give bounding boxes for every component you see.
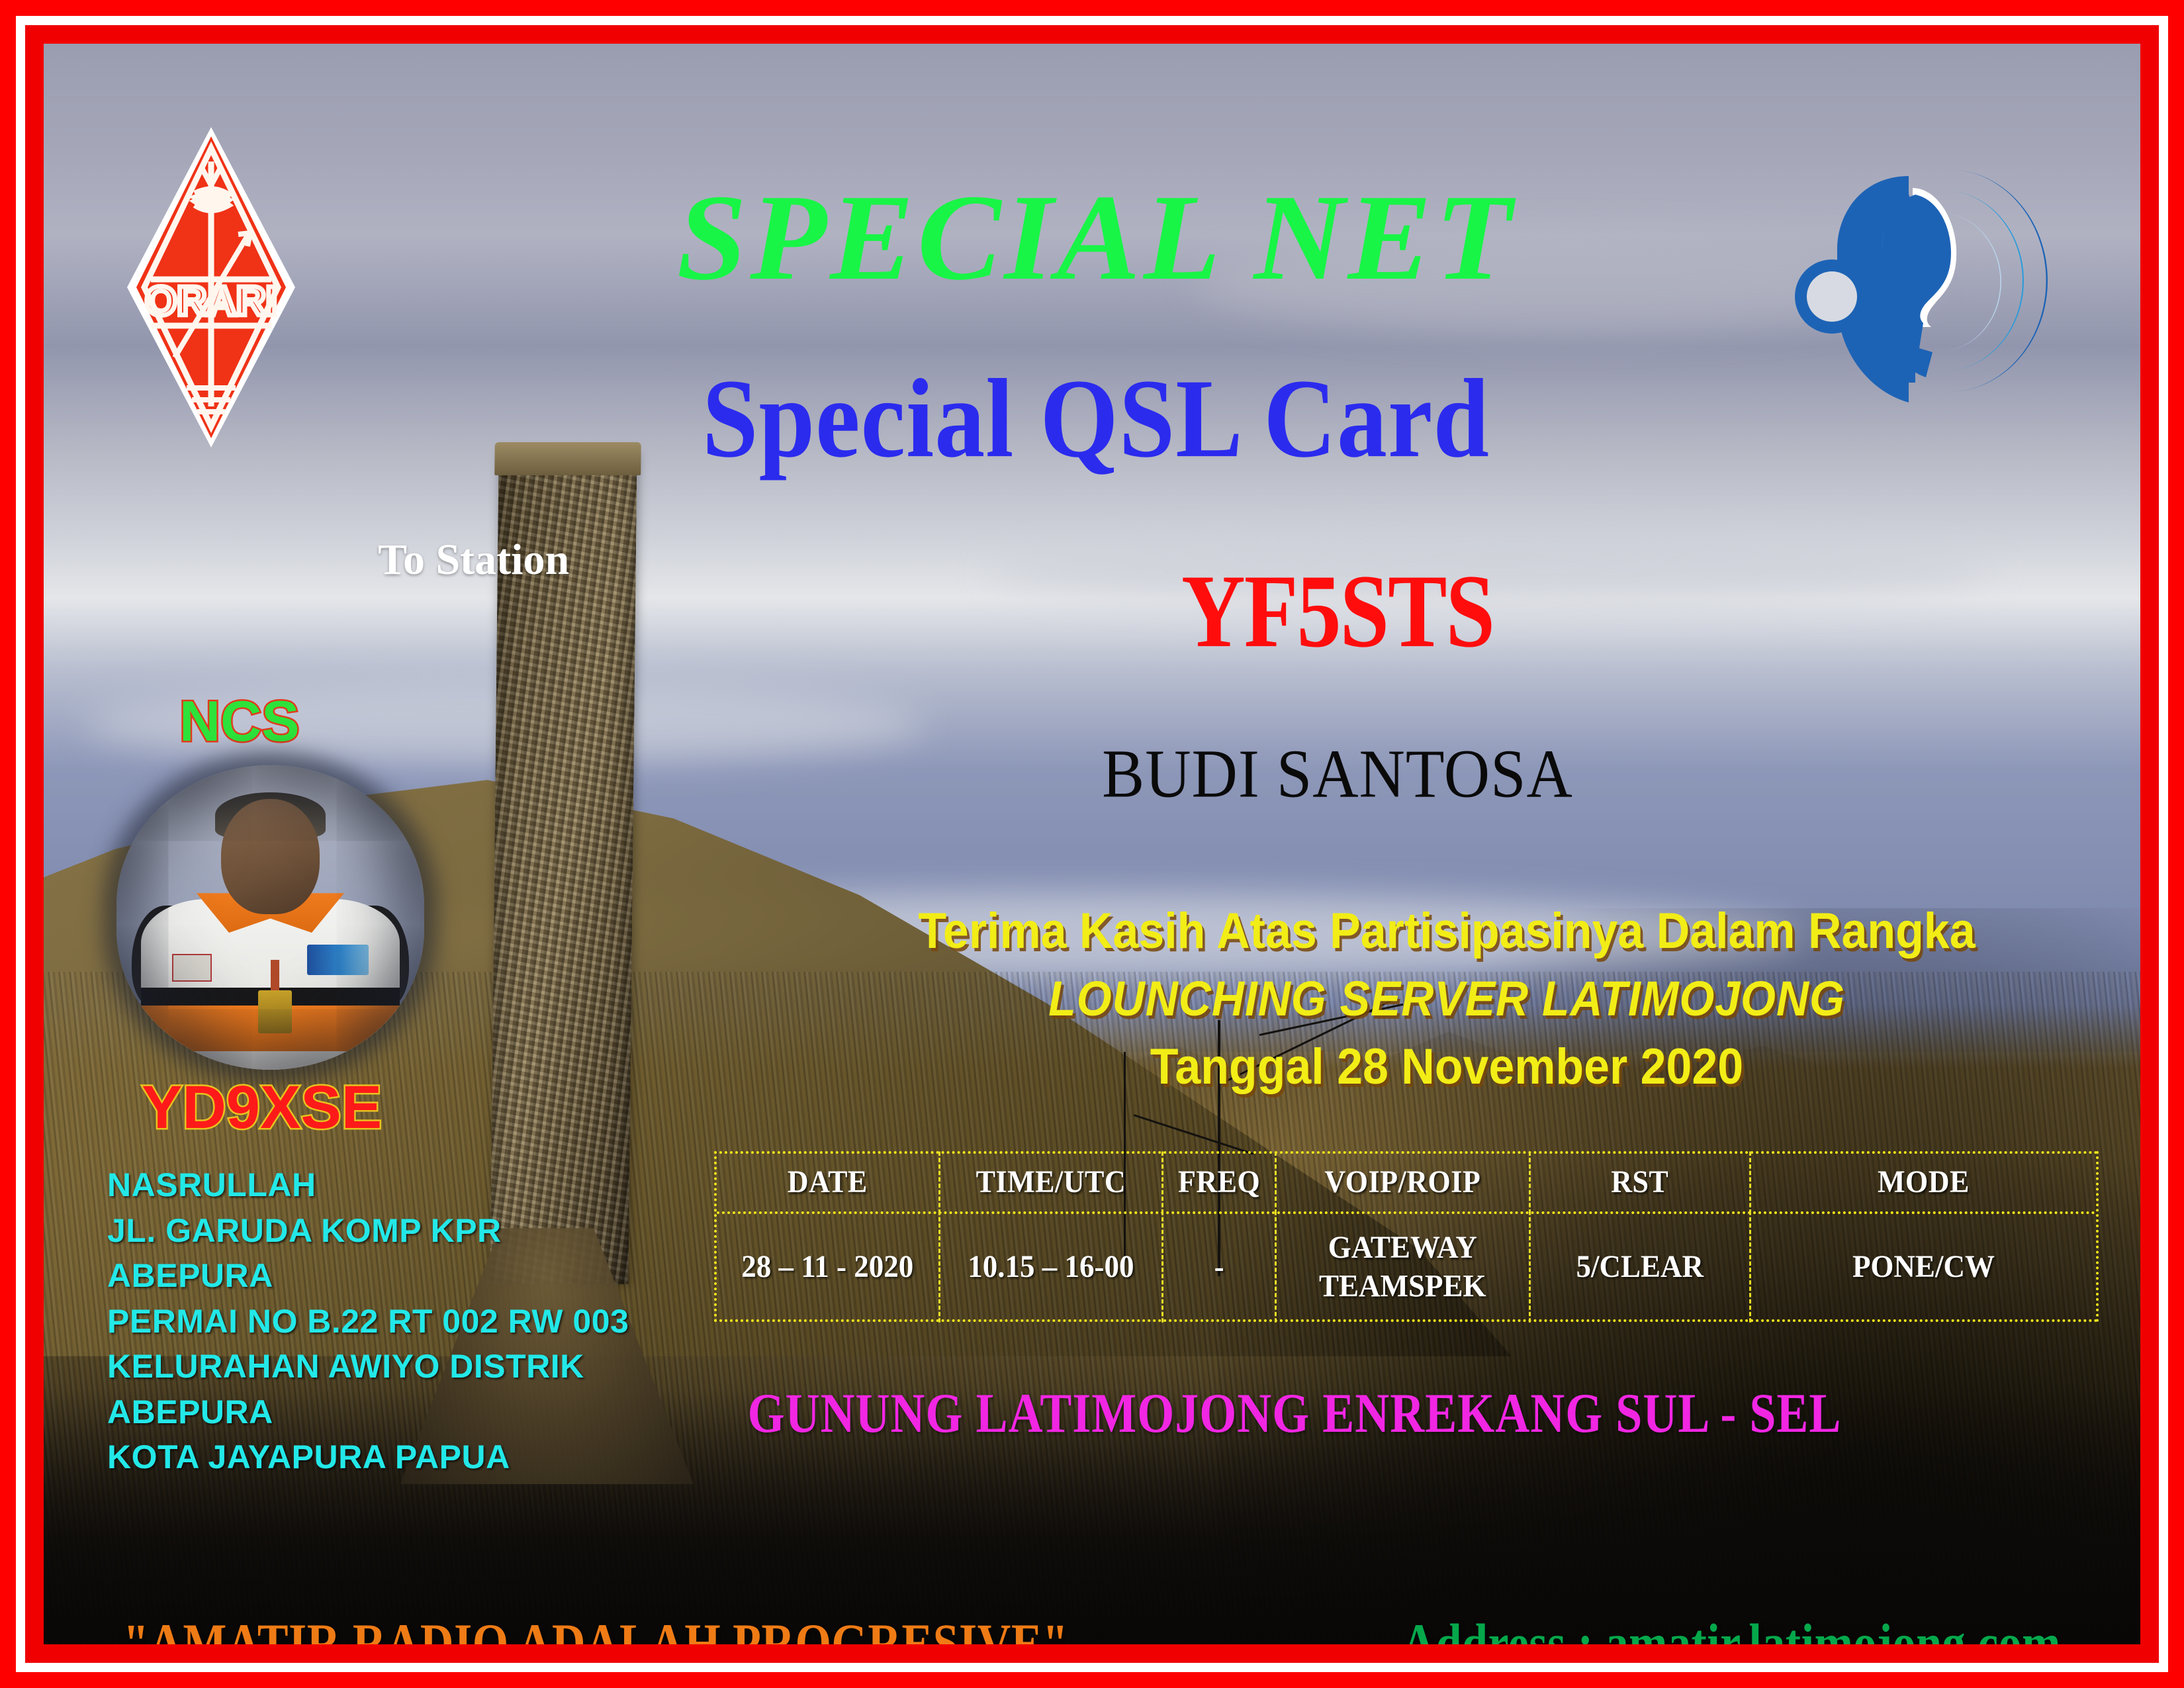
address-line: KELURAHAN AWIYO DISTRIK — [107, 1344, 629, 1389]
orari-logo: ORARI — [122, 122, 300, 453]
location-caption: GUNUNG LATIMOJONG ENREKANG SUL - SEL — [679, 1382, 1910, 1446]
orari-logo-text: ORARI — [145, 279, 277, 324]
qso-value-date: 28 – 11 - 2020 — [717, 1211, 940, 1323]
address-line: JL. GARUDA KOMP KPR — [107, 1208, 629, 1254]
qso-value-time-utc: 10.15 – 16-00 — [940, 1211, 1164, 1323]
qsl-card-outer-frame: ORARI — [0, 0, 2184, 1688]
qsl-card-inner-frame: ORARI — [25, 25, 2159, 1663]
operator-portrait-photo — [116, 765, 424, 1070]
qso-header-rst: RST — [1531, 1152, 1751, 1214]
address-line: PERMAI NO B.22 RT 002 RW 003 — [107, 1299, 629, 1344]
event-title-line: LOUNCHING SERVER LATIMOJONG — [838, 970, 2056, 1027]
recipient-callsign: YF5STS — [957, 559, 1718, 663]
footer-website-address: Address : amatir.latimojong.com — [1402, 1613, 2061, 1644]
qso-header-time-utc: TIME/UTC — [940, 1152, 1164, 1214]
qsl-card-white-gap: ORARI — [16, 16, 2168, 1672]
qso-header-freq: FREQ — [1163, 1152, 1277, 1214]
title-special-qsl-card: Special QSL Card — [467, 362, 1725, 475]
qso-value-rst: 5/CLEAR — [1531, 1211, 1751, 1323]
card-content-overlay: ORARI — [44, 44, 2140, 1644]
address-line: ABEPURA — [107, 1253, 629, 1299]
thanks-message-line-1: Terima Kasih Atas Partisipasinya Dalam R… — [838, 902, 2056, 960]
qso-value-voip-roip: GATEWAY TEAMSPEK — [1277, 1211, 1530, 1323]
card-background-photo: ORARI — [44, 44, 2140, 1644]
qso-header-voip-roip: VOIP/ROIP — [1277, 1152, 1530, 1214]
title-special-net: SPECIAL NET — [455, 176, 1737, 299]
address-line: KOTA JAYAPURA PAPUA — [107, 1434, 629, 1480]
to-station-label: To Station — [378, 535, 569, 585]
qso-log-table: DATE TIME/UTC FREQ VOIP/ROIP RST MODE 28… — [714, 1151, 2099, 1322]
event-date-line: Tanggal 28 November 2020 — [838, 1038, 2056, 1096]
footer-motto: "AMATIR RADIO ADALAH PROGRESIVE" — [123, 1613, 1068, 1644]
address-line: ABEPURA — [107, 1389, 629, 1435]
headset-radio-logo — [1783, 150, 2061, 414]
address-line: NASRULLAH — [107, 1162, 629, 1208]
qso-table-data-row: 28 – 11 - 2020 10.15 – 16-00 - GATEWAY T… — [717, 1214, 2096, 1319]
qso-value-mode: PONE/CW — [1751, 1211, 2096, 1323]
qso-table-header-row: DATE TIME/UTC FREQ VOIP/ROIP RST MODE — [717, 1154, 2096, 1214]
ncs-callsign: YD9XSE — [142, 1073, 382, 1143]
ncs-postal-address: NASRULLAH JL. GARUDA KOMP KPR ABEPURA PE… — [107, 1162, 629, 1480]
qso-header-date: DATE — [717, 1152, 940, 1214]
recipient-operator-name: BUDI SANTOSA — [957, 739, 1718, 808]
ncs-label: NCS — [179, 689, 300, 755]
qso-header-mode: MODE — [1751, 1152, 2096, 1214]
qso-value-freq: - — [1163, 1211, 1277, 1323]
